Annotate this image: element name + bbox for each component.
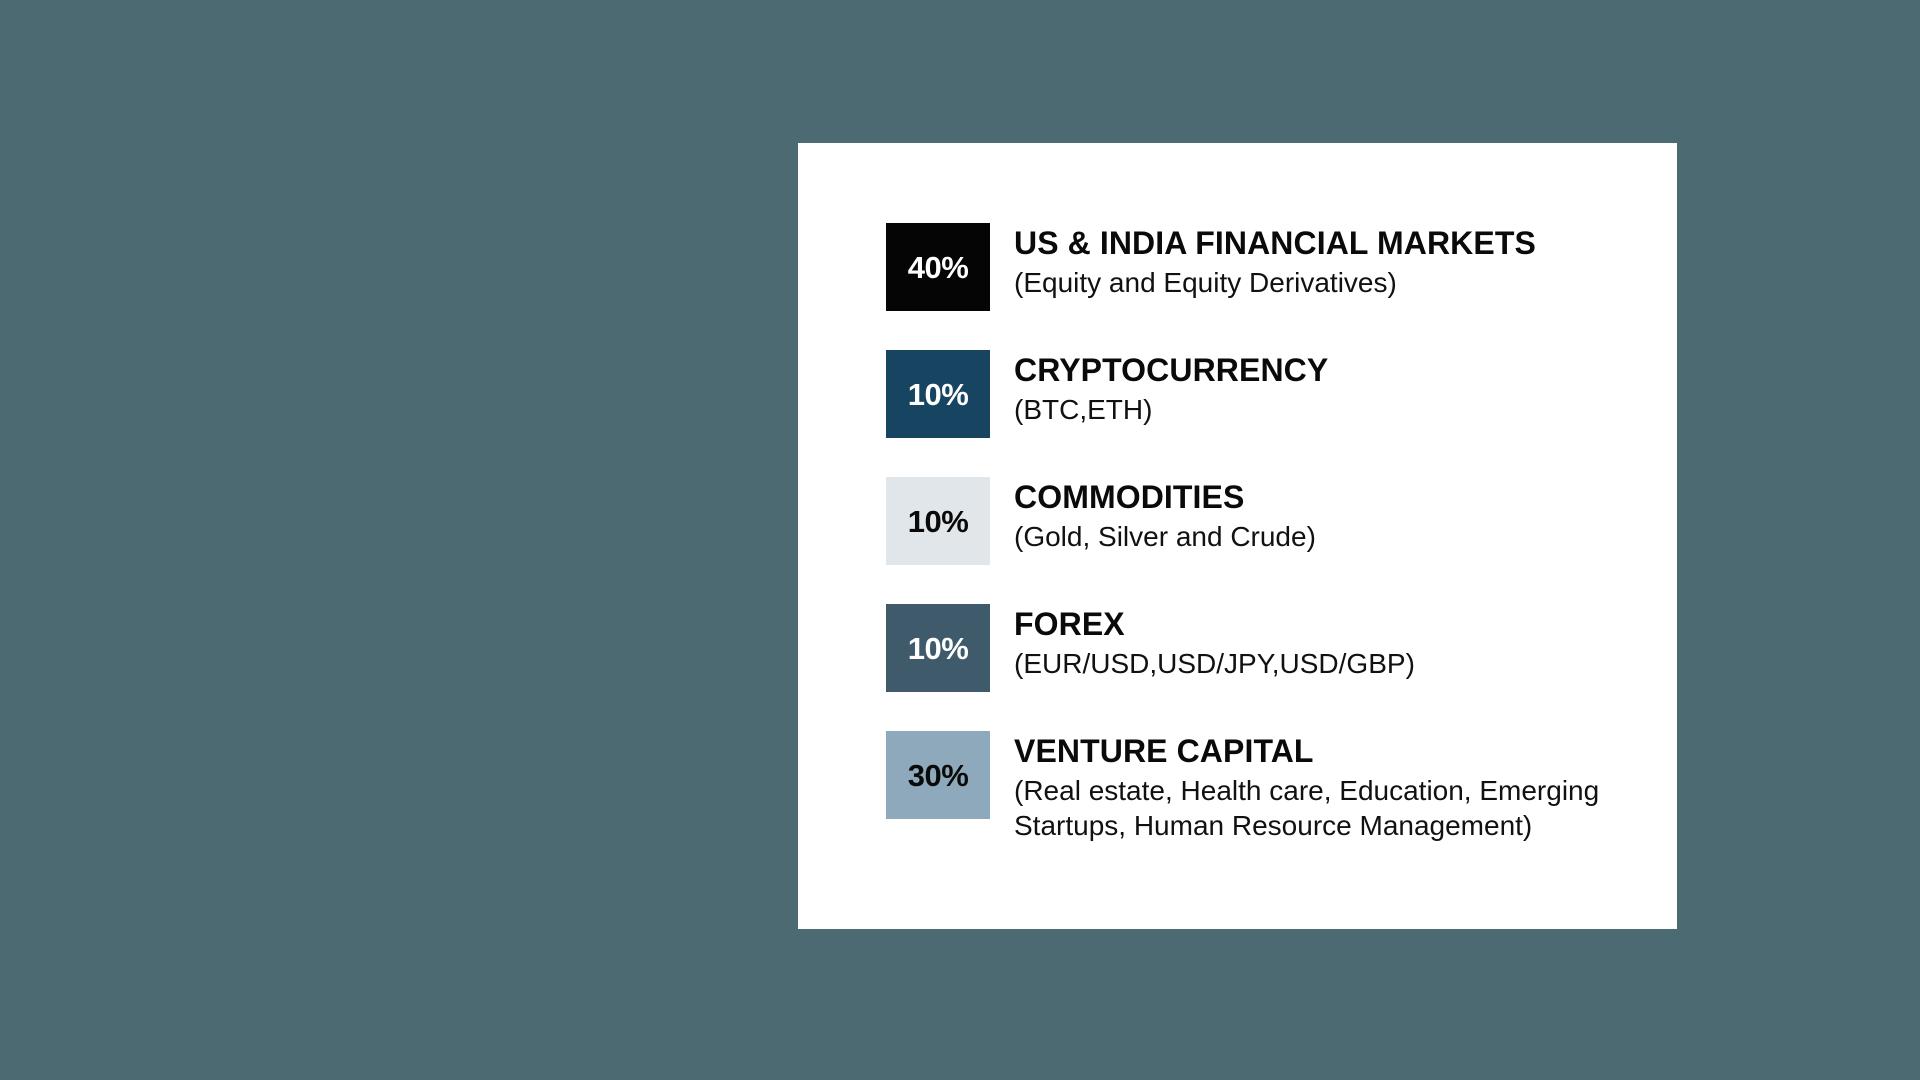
allocation-subtitle: (Gold, Silver and Crude) bbox=[1014, 519, 1634, 554]
allocation-percent: 10% bbox=[908, 633, 969, 664]
allocation-swatch-cryptocurrency: 10% bbox=[886, 350, 990, 438]
allocation-percent: 10% bbox=[908, 379, 969, 410]
allocation-text-block: CRYPTOCURRENCY (BTC,ETH) bbox=[990, 350, 1657, 427]
list-item: 10% CRYPTOCURRENCY (BTC,ETH) bbox=[886, 350, 1657, 438]
list-item: 30% VENTURE CAPITAL (Real estate, Health… bbox=[886, 731, 1657, 843]
allocation-text-block: US & INDIA FINANCIAL MARKETS (Equity and… bbox=[990, 223, 1657, 300]
allocation-percent: 40% bbox=[908, 252, 969, 283]
allocation-subtitle: (Equity and Equity Derivatives) bbox=[1014, 265, 1634, 300]
allocation-subtitle: (BTC,ETH) bbox=[1014, 392, 1634, 427]
allocation-text-block: COMMODITIES (Gold, Silver and Crude) bbox=[990, 477, 1657, 554]
allocation-swatch-commodities: 10% bbox=[886, 477, 990, 565]
allocation-title: FOREX bbox=[1014, 607, 1657, 643]
list-item: 10% COMMODITIES (Gold, Silver and Crude) bbox=[886, 477, 1657, 565]
allocation-title: CRYPTOCURRENCY bbox=[1014, 353, 1657, 389]
allocation-subtitle: (Real estate, Health care, Education, Em… bbox=[1014, 773, 1634, 844]
page-canvas: 40% US & INDIA FINANCIAL MARKETS (Equity… bbox=[0, 0, 1920, 1080]
allocation-percent: 10% bbox=[908, 506, 969, 537]
allocation-swatch-venture-capital: 30% bbox=[886, 731, 990, 819]
allocation-legend-list: 40% US & INDIA FINANCIAL MARKETS (Equity… bbox=[886, 223, 1657, 843]
allocation-card: 40% US & INDIA FINANCIAL MARKETS (Equity… bbox=[798, 143, 1677, 929]
allocation-text-block: VENTURE CAPITAL (Real estate, Health car… bbox=[990, 731, 1657, 843]
allocation-text-block: FOREX (EUR/USD,USD/JPY,USD/GBP) bbox=[990, 604, 1657, 681]
allocation-subtitle: (EUR/USD,USD/JPY,USD/GBP) bbox=[1014, 646, 1634, 681]
allocation-title: US & INDIA FINANCIAL MARKETS bbox=[1014, 226, 1657, 262]
allocation-title: VENTURE CAPITAL bbox=[1014, 734, 1657, 770]
allocation-swatch-forex: 10% bbox=[886, 604, 990, 692]
allocation-swatch-us-india-financial-markets: 40% bbox=[886, 223, 990, 311]
allocation-title: COMMODITIES bbox=[1014, 480, 1657, 516]
allocation-percent: 30% bbox=[908, 760, 969, 791]
list-item: 40% US & INDIA FINANCIAL MARKETS (Equity… bbox=[886, 223, 1657, 311]
list-item: 10% FOREX (EUR/USD,USD/JPY,USD/GBP) bbox=[886, 604, 1657, 692]
